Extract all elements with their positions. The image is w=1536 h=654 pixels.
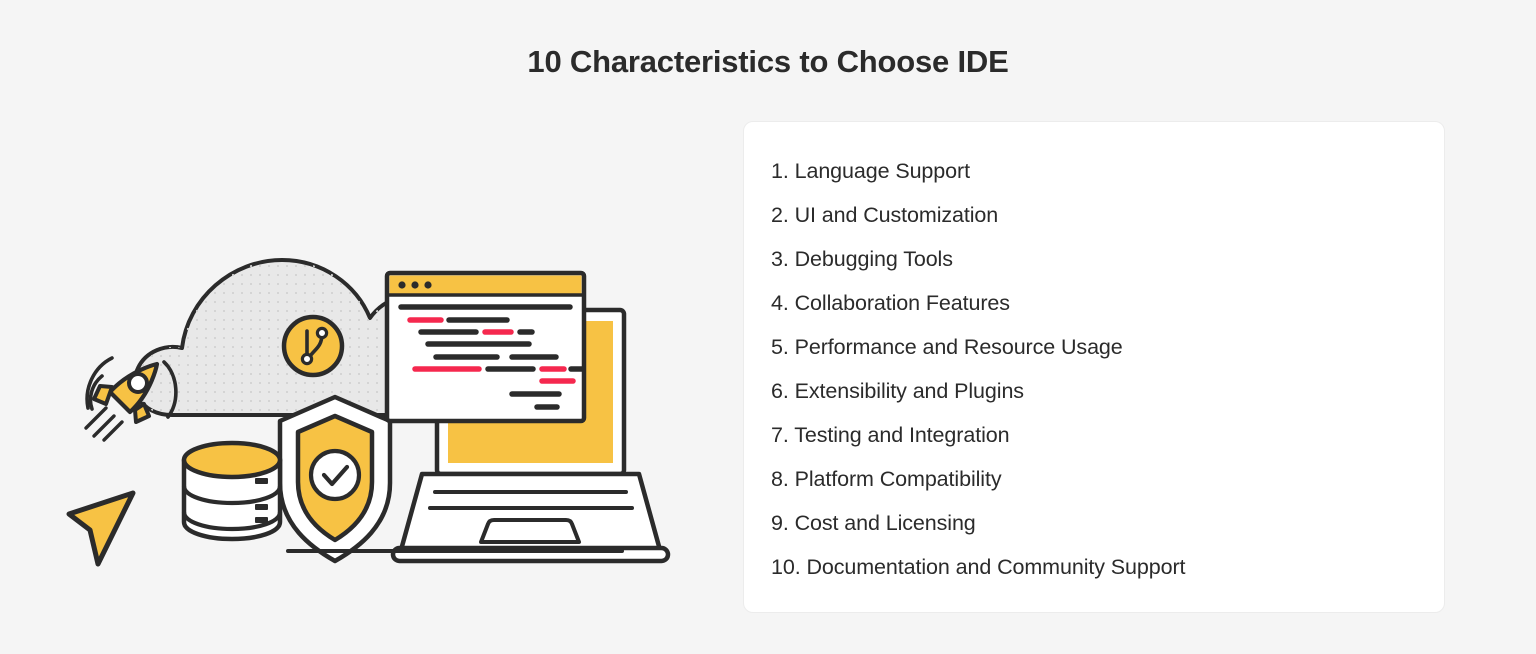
- code-window: [387, 273, 584, 421]
- cursor-arrow-icon: [69, 493, 133, 564]
- database-icon: [184, 443, 280, 539]
- list-item: 8. Platform Compatibility: [771, 457, 1444, 501]
- list-item: 2. UI and Customization: [771, 193, 1444, 237]
- list-item: 10. Documentation and Community Support: [771, 545, 1444, 589]
- git-branch-icon: [284, 317, 342, 375]
- list-item: 7. Testing and Integration: [771, 413, 1444, 457]
- list-item: 6. Extensibility and Plugins: [771, 369, 1444, 413]
- list-item: 4. Collaboration Features: [771, 281, 1444, 325]
- shield-check-icon: [280, 397, 390, 561]
- window-control-dots: [398, 281, 431, 288]
- list-item: 9. Cost and Licensing: [771, 501, 1444, 545]
- list-item: 1. Language Support: [771, 149, 1444, 193]
- list-item: 5. Performance and Resource Usage: [771, 325, 1444, 369]
- list-item: 3. Debugging Tools: [771, 237, 1444, 281]
- page-title: 10 Characteristics to Choose IDE: [0, 44, 1536, 80]
- characteristics-list: 1. Language Support 2. UI and Customizat…: [744, 122, 1444, 589]
- characteristics-card: 1. Language Support 2. UI and Customizat…: [743, 121, 1445, 613]
- ide-illustration: [60, 120, 680, 580]
- page-root: 10 Characteristics to Choose IDE: [0, 0, 1536, 654]
